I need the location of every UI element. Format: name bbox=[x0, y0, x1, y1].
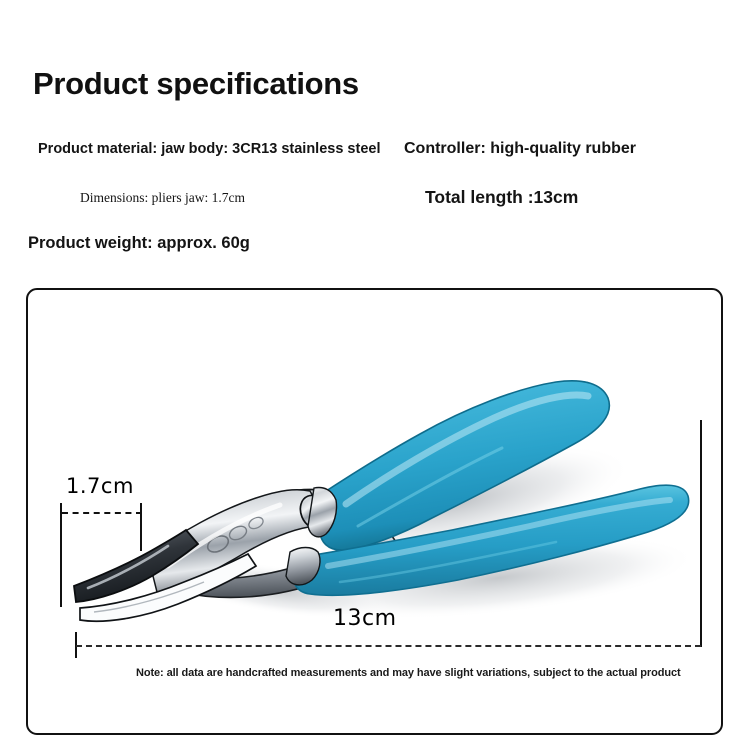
dimension-label-total-length: 13cm bbox=[333, 606, 397, 631]
spec-controller: Controller: high-quality rubber bbox=[404, 140, 636, 158]
page-title: Product specifications bbox=[33, 66, 359, 102]
spec-product-material: Product material: jaw body: 3CR13 stainl… bbox=[38, 141, 380, 157]
spec-total-length: Total length :13cm bbox=[425, 187, 578, 208]
dimension-line-jaw-width bbox=[62, 512, 142, 514]
product-spec-page: Product specifications Product material:… bbox=[0, 0, 750, 750]
spec-dimensions: Dimensions: pliers jaw: 1.7cm bbox=[80, 190, 245, 206]
dimension-tick-jaw-left bbox=[60, 503, 62, 607]
spec-product-weight: Product weight: approx. 60g bbox=[28, 234, 250, 253]
dimension-tick-jaw-right bbox=[140, 503, 142, 551]
dimension-label-jaw-width: 1.7cm bbox=[66, 474, 134, 498]
measurement-note: Note: all data are handcrafted measureme… bbox=[136, 667, 681, 679]
dimension-tick-length-right bbox=[700, 420, 702, 647]
dimension-line-total-length bbox=[76, 645, 701, 647]
